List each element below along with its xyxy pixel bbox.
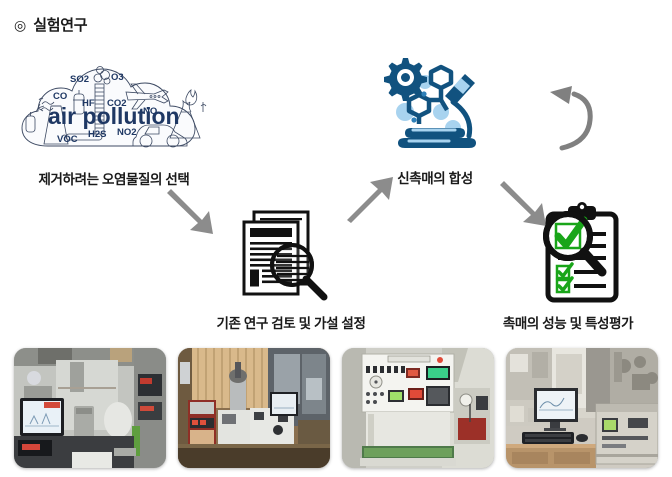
arrow-evaluation-loop-back [548, 78, 620, 156]
arrow-pollutant-to-review [165, 184, 227, 240]
photo-analysis-instruments [178, 348, 330, 468]
cloud-label-voc: VOC [57, 134, 78, 145]
photo-strip [0, 348, 672, 472]
page-title-text: 실험연구 [33, 14, 87, 35]
cloud-main-text: air pollution [48, 103, 180, 129]
photo-control-panel [342, 348, 494, 468]
photo-workstation [506, 348, 658, 468]
step-caption-performance-evaluation: 촉매의 성능 및 특성평가 [468, 312, 668, 332]
step-caption-catalyst-synthesis: 신촉매의 합성 [375, 167, 495, 187]
cloud-label-so2: SO2 [70, 74, 89, 85]
slide-canvas: ◎ 실험연구 [0, 0, 672, 477]
cloud-label-co: CO [53, 91, 67, 102]
documents-magnifier-icon [236, 208, 336, 304]
cloud-label-o3: O3 [111, 72, 124, 83]
photo-reactor-lab [14, 348, 166, 468]
cloud-label-h2s: H2S [88, 129, 106, 140]
step-caption-literature-review: 기존 연구 검토 및 가설 설정 [186, 312, 396, 332]
air-pollution-cloud-icon: SO2 O3 CO HF CO2 NO VOC H2S NO2 air poll… [18, 54, 218, 154]
clipboard-checklist-magnifier-icon [534, 202, 630, 306]
bullet-icon: ◎ [14, 18, 26, 32]
page-title: ◎ 실험연구 [14, 14, 87, 35]
microscope-icon [383, 50, 487, 150]
